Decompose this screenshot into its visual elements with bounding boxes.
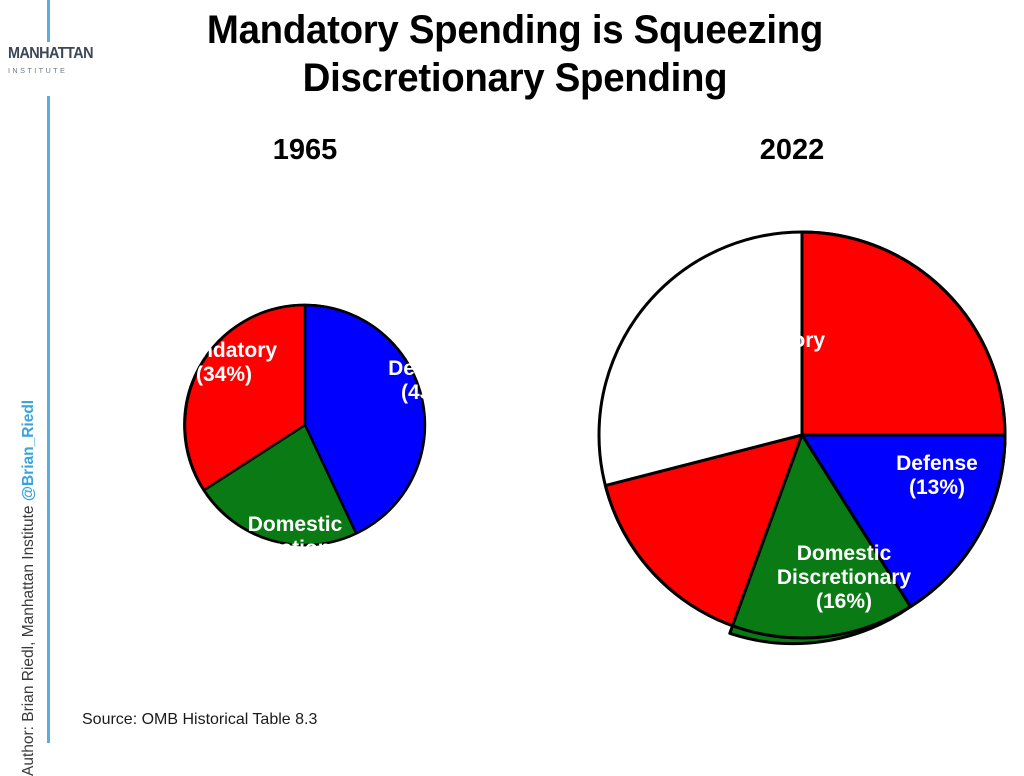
author-credit: Author: Brian Riedl, Manhattan Institute… <box>14 216 44 776</box>
left-accent-rule <box>47 96 50 743</box>
page-title: Mandatory Spending is Squeezing Discreti… <box>170 6 860 102</box>
page-title-line-2: Discretionary Spending <box>184 54 846 102</box>
slice-label-1965-domestic-pct: (23%) <box>195 561 395 585</box>
logo-subtitle: INSTITUTE <box>8 67 96 74</box>
page-title-line-1: Mandatory Spending is Squeezing <box>184 6 846 54</box>
pie-1965-svg <box>175 295 435 555</box>
author-twitter-handle: @Brian_Riedl <box>20 400 37 501</box>
logo-wordmark: MANHATTAN <box>8 46 90 62</box>
source-note: Source: OMB Historical Table 8.3 <box>82 711 317 729</box>
panel-year-2022: 2022 <box>692 134 892 167</box>
left-accent-rule-top <box>47 0 50 42</box>
manhattan-institute-logo: MANHATTAN INSTITUTE <box>8 46 96 74</box>
author-credit-text: Author: Brian Riedl, Manhattan Institute <box>20 501 37 776</box>
pie-chart-2022 <box>589 222 1015 648</box>
pie-2022-svg <box>589 222 1015 648</box>
pie-chart-1965 <box>175 295 435 555</box>
panel-year-1965: 1965 <box>205 134 405 167</box>
